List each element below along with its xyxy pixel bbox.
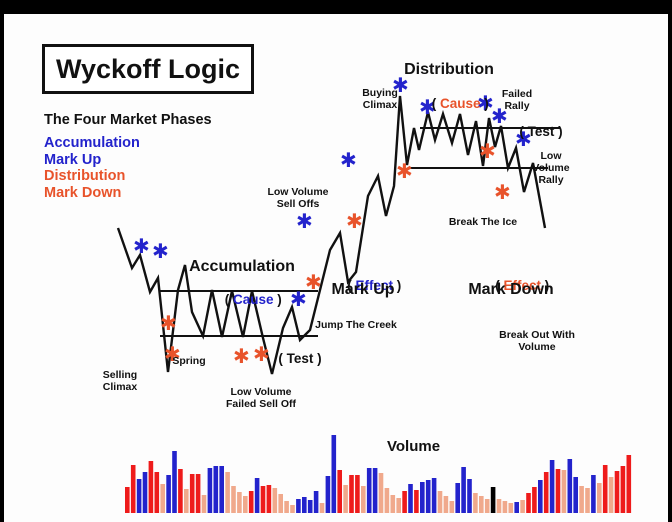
volume-bar	[603, 465, 608, 513]
volume-bar	[196, 474, 201, 513]
volume-bar	[579, 486, 584, 513]
volume-bar	[373, 468, 378, 513]
volume-bar	[267, 485, 272, 513]
volume-bar	[485, 499, 490, 513]
volume-bar	[343, 485, 348, 513]
volume-bar	[166, 475, 171, 513]
volume-bar	[408, 484, 413, 513]
volume-chart	[4, 14, 668, 522]
volume-bar	[225, 472, 230, 513]
volume-bar	[349, 475, 354, 513]
volume-bars	[125, 435, 631, 513]
volume-bar	[219, 466, 224, 513]
volume-bar	[491, 487, 496, 513]
volume-bar	[184, 489, 189, 513]
volume-bar	[202, 495, 207, 513]
volume-bar	[450, 501, 455, 513]
volume-bar	[326, 476, 331, 513]
volume-bar	[396, 498, 401, 513]
volume-bar	[627, 455, 632, 513]
volume-bar	[514, 502, 519, 513]
volume-bar	[320, 503, 325, 513]
diagram-canvas: Wyckoff Logic The Four Market Phases Acc…	[4, 14, 668, 522]
volume-bar	[290, 505, 295, 513]
volume-bar	[131, 465, 136, 513]
screenshot-root: Wyckoff Logic The Four Market Phases Acc…	[0, 0, 672, 522]
volume-bar	[249, 491, 254, 513]
volume-bar	[255, 478, 260, 513]
volume-bar	[615, 471, 620, 513]
volume-bar	[332, 435, 337, 513]
volume-bar	[208, 468, 213, 513]
volume-bar	[509, 503, 514, 513]
volume-bar	[414, 490, 419, 513]
volume-bar	[160, 484, 165, 513]
volume-bar	[361, 486, 366, 513]
volume-bar	[243, 496, 248, 513]
volume-bar	[296, 499, 301, 513]
volume-bar	[532, 487, 537, 513]
volume-bar	[237, 492, 242, 513]
volume-bar	[137, 479, 142, 513]
volume-bar	[273, 488, 278, 513]
volume-bar	[526, 493, 531, 513]
volume-bar	[420, 482, 425, 513]
volume-bar	[149, 461, 154, 513]
volume-bar	[143, 472, 148, 513]
volume-bar	[597, 483, 602, 513]
volume-bar	[231, 486, 236, 513]
volume-bar	[402, 491, 407, 513]
volume-bar	[284, 501, 289, 513]
volume-bar	[609, 477, 614, 513]
volume-bar	[556, 469, 561, 513]
volume-bar	[178, 469, 183, 513]
volume-bar	[261, 486, 266, 513]
volume-bar	[355, 475, 360, 513]
volume-bar	[367, 468, 372, 513]
volume-bar	[438, 491, 443, 513]
volume-bar	[125, 487, 130, 513]
volume-bar	[172, 451, 177, 513]
volume-bar	[190, 474, 195, 513]
volume-bar	[568, 459, 573, 513]
volume-bar	[544, 472, 549, 513]
volume-bar	[497, 499, 502, 513]
volume-bar	[379, 473, 384, 513]
volume-bar	[337, 470, 342, 513]
volume-bar	[278, 494, 283, 513]
volume-bar	[314, 491, 319, 513]
volume-bar	[585, 488, 590, 513]
volume-bar	[308, 500, 313, 513]
volume-bar	[562, 470, 567, 513]
volume-bar	[591, 475, 596, 513]
volume-bar	[302, 497, 307, 513]
volume-bar	[503, 501, 508, 513]
volume-bar	[621, 466, 626, 513]
volume-bar	[385, 488, 390, 513]
volume-bar	[520, 500, 525, 513]
volume-bar	[550, 460, 555, 513]
volume-bar	[391, 495, 396, 513]
volume-bar	[214, 466, 219, 513]
volume-bar	[473, 493, 478, 513]
volume-bar	[432, 478, 437, 513]
volume-bar	[573, 477, 578, 513]
volume-bar	[461, 467, 466, 513]
volume-bar	[455, 483, 460, 513]
volume-bar	[426, 480, 431, 513]
volume-bar	[479, 496, 484, 513]
volume-bar	[467, 479, 472, 513]
volume-bar	[538, 480, 543, 513]
volume-bar	[444, 496, 449, 513]
volume-bar	[155, 472, 160, 513]
